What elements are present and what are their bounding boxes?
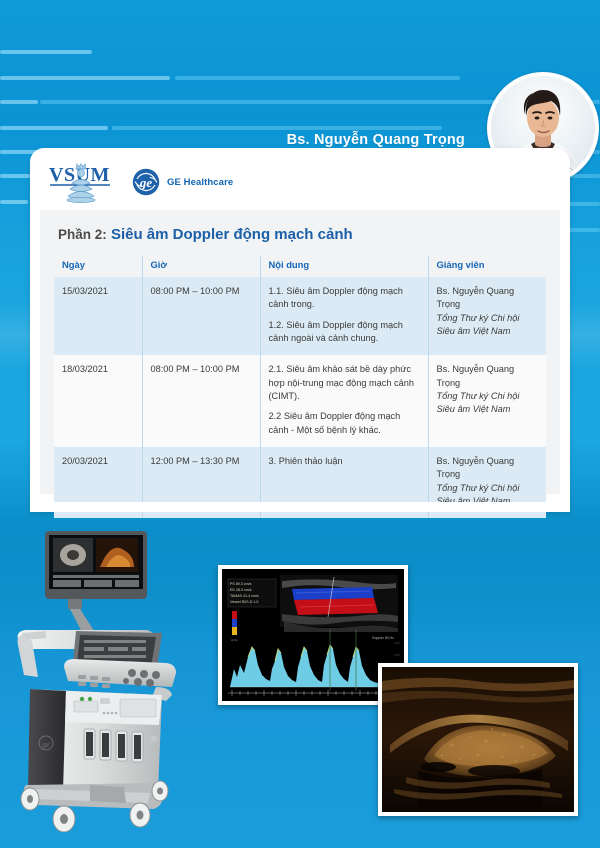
cell-lecturer: Bs. Nguyễn Quang Trọng Tổng Thư ký Chi h… [428, 277, 546, 355]
lecturer-role: Tổng Thư ký Chi hội Siêu âm Việt Nam [437, 312, 539, 339]
content-item: 2.2 Siêu âm Doppler động mạch cảnh - Một… [269, 410, 420, 437]
accent-line [0, 76, 170, 80]
cell-time: 12:00 PM – 13:30 PM [142, 447, 260, 518]
page-title: Phần 2: Siêu âm Doppler động mạch cảnh [58, 226, 353, 243]
cell-time: 08:00 PM – 10:00 PM [142, 355, 260, 447]
logo-row: VSUM [48, 158, 233, 206]
page-title-prefix: Phần 2: [58, 227, 107, 242]
lecturer-name: Bs. Nguyễn Quang Trọng [437, 455, 539, 482]
doppler-ultrasound-icon: PS 89.3 cm/s ED 28.3 cm/s TAMAX 41.4 cm/… [222, 569, 404, 701]
ultrasound-machine-photo: ge [8, 527, 193, 832]
cell-date: 18/03/2021 [54, 355, 142, 447]
svg-text:TAMAX 41.4 cm/s: TAMAX 41.4 cm/s [230, 594, 259, 598]
ge-healthcare-logo: ge GE Healthcare [132, 168, 233, 196]
accent-line [0, 126, 108, 130]
schedule-table: Ngày Giờ Nội dung Giảng viên 15/03/2021 … [54, 256, 546, 518]
accent-line [112, 126, 442, 130]
column-header-lecturer: Giảng viên [428, 256, 546, 277]
table-row: 15/03/2021 08:00 PM – 10:00 PM 1.1. Siêu… [54, 277, 546, 355]
lecturer-role: Tổng Thư ký Chi hội Siêu âm Việt Nam [437, 390, 539, 417]
carotid-plaque-ultrasound-image [378, 663, 578, 816]
table-header-row: Ngày Giờ Nội dung Giảng viên [54, 256, 546, 277]
speaker-name: Bs. Nguyễn Quang Trọng [287, 132, 465, 148]
content-item: 2.1. Siêu âm khảo sát bề dày phức hợp nộ… [269, 363, 420, 403]
cell-content: 1.1. Siêu âm Doppler động mạch cảnh tron… [260, 277, 428, 355]
accent-line [0, 50, 92, 54]
content-item: 1.2. Siêu âm Doppler động mạch cảnh ngoà… [269, 319, 420, 346]
lecturer-role: Tổng Thư ký Chi hội Siêu âm Việt Nam [437, 482, 539, 509]
ge-monogram-icon: ge [132, 168, 160, 196]
lecturer-name: Bs. Nguyễn Quang Trọng [437, 363, 539, 390]
cell-content: 2.1. Siêu âm khảo sát bề dày phức hợp nộ… [260, 355, 428, 447]
accent-line [0, 200, 28, 204]
cell-content: 3. Phiên thảo luận [260, 447, 428, 518]
column-header-time: Giờ [142, 256, 260, 277]
svg-text:Doppler 80 Hz: Doppler 80 Hz [372, 636, 394, 640]
ultrasound-machine-icon: ge [8, 527, 193, 832]
cell-date: 20/03/2021 [54, 447, 142, 518]
content-item: 3. Phiên thảo luận [269, 455, 420, 468]
table-row: 18/03/2021 08:00 PM – 10:00 PM 2.1. Siêu… [54, 355, 546, 447]
accent-line [0, 100, 38, 104]
ge-healthcare-label: GE Healthcare [167, 177, 233, 188]
accent-line [0, 174, 30, 178]
page-title-main: Siêu âm Doppler động mạch cảnh [111, 226, 353, 243]
cell-lecturer: Bs. Nguyễn Quang Trọng Tổng Thư ký Chi h… [428, 355, 546, 447]
svg-text:cm/s: cm/s [231, 638, 238, 642]
svg-text:Vessel RI/S-D 1.0: Vessel RI/S-D 1.0 [230, 600, 258, 604]
svg-text:PS 89.3 cm/s: PS 89.3 cm/s [230, 582, 252, 586]
cell-lecturer: Bs. Nguyễn Quang Trọng Tổng Thư ký Chi h… [428, 447, 546, 518]
schedule-panel: Phần 2: Siêu âm Doppler động mạch cảnh N… [40, 210, 560, 494]
table-row: 20/03/2021 12:00 PM – 13:30 PM 3. Phiên … [54, 447, 546, 518]
svg-text:ED 28.3 cm/s: ED 28.3 cm/s [230, 588, 252, 592]
lecturer-name: Bs. Nguyễn Quang Trọng [437, 285, 539, 312]
svg-text:ge: ge [139, 175, 153, 190]
column-header-date: Ngày [54, 256, 142, 277]
cell-date: 15/03/2021 [54, 277, 142, 355]
plaque-ultrasound-icon [382, 667, 574, 812]
column-header-content: Nội dung [260, 256, 428, 277]
content-item: 1.1. Siêu âm Doppler động mạch cảnh tron… [269, 285, 420, 312]
accent-line [175, 76, 460, 80]
cell-time: 08:00 PM – 10:00 PM [142, 277, 260, 355]
svg-text:ge: ge [42, 740, 50, 749]
schedule-card: VSUM [30, 148, 570, 512]
vsum-logo: VSUM [48, 159, 114, 205]
